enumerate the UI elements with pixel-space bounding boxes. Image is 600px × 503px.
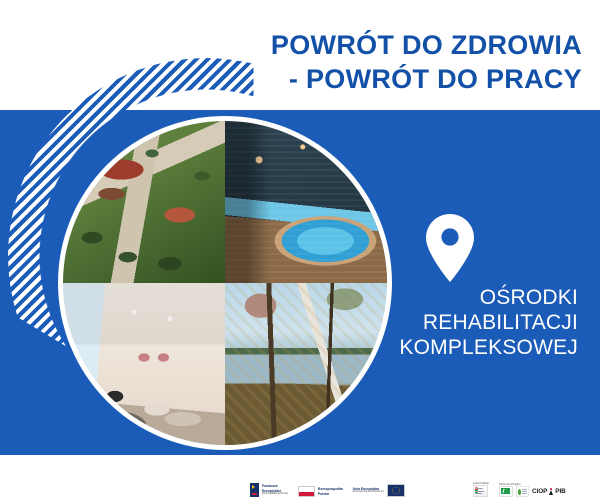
page-title: POWRÓT DO ZDROWIA - POWRÓT DO PRACY — [150, 28, 582, 96]
pl-title-2: Polska — [318, 492, 343, 496]
location-pin-icon — [424, 213, 476, 283]
ministerstwo-logo — [473, 485, 489, 497]
caption-block: OŚRODKI REHABILITACJI KOMPLEKSOWEJ — [318, 285, 578, 360]
ciop-text-right: PIB — [555, 488, 565, 495]
title-line-2: - POWRÓT DO PRACY — [150, 62, 582, 96]
ministerstwo-mark-icon — [473, 485, 488, 497]
eu-flag-icon — [387, 484, 405, 497]
photo-aerial-resort-view — [63, 121, 225, 283]
partnerzy-projektu-group: Partnerzy Projektu CIOP PIB — [499, 483, 566, 497]
footer-logo-row: Fundusze Europejskie Wiedza Edukacja Roz… — [250, 463, 590, 497]
ciop-emblem-icon — [548, 488, 554, 496]
fundusze-europejskie-mark-icon — [250, 483, 259, 497]
poster-canvas: POWRÓT DO ZDROWIA - POWRÓT DO PRACY OŚRO… — [0, 0, 600, 503]
photo-lounge-interior — [63, 283, 225, 445]
title-line-1: POWRÓT DO ZDROWIA — [150, 28, 582, 62]
pfron-logo-icon — [499, 486, 513, 497]
footer-logo-bar: Fundusze Europejskie Wiedza Edukacja Roz… — [0, 455, 600, 503]
ciop-pib-logo: CIOP PIB — [532, 488, 566, 496]
caption-line-1: OŚRODKI — [318, 285, 578, 310]
photo-collage-grid — [63, 121, 387, 445]
unia-europejska-logo: Unia Europejska Europejski Fundusz Społe… — [353, 484, 405, 497]
caption-line-3: KOMPLEKSOWEJ — [318, 335, 578, 360]
photo-collage-circle — [58, 116, 392, 450]
photo-indoor-pool-jacuzzi — [225, 121, 387, 283]
eu-subtitle: Europejski Fundusz Społeczny — [353, 491, 384, 494]
ciop-text-left: CIOP — [532, 488, 547, 495]
poland-flag-icon — [298, 486, 315, 497]
lider-projektu-group: Lider Projektu — [473, 482, 489, 497]
partner-logo-icon — [516, 486, 529, 497]
caption-line-2: REHABILITACJI — [318, 310, 578, 335]
rzeczpospolita-polska-logo: Rzeczpospolita Polska — [298, 486, 343, 497]
fe-subtitle: Wiedza Edukacja Rozwój — [262, 493, 288, 496]
fundusze-europejskie-logo: Fundusze Europejskie Wiedza Edukacja Roz… — [250, 483, 288, 497]
